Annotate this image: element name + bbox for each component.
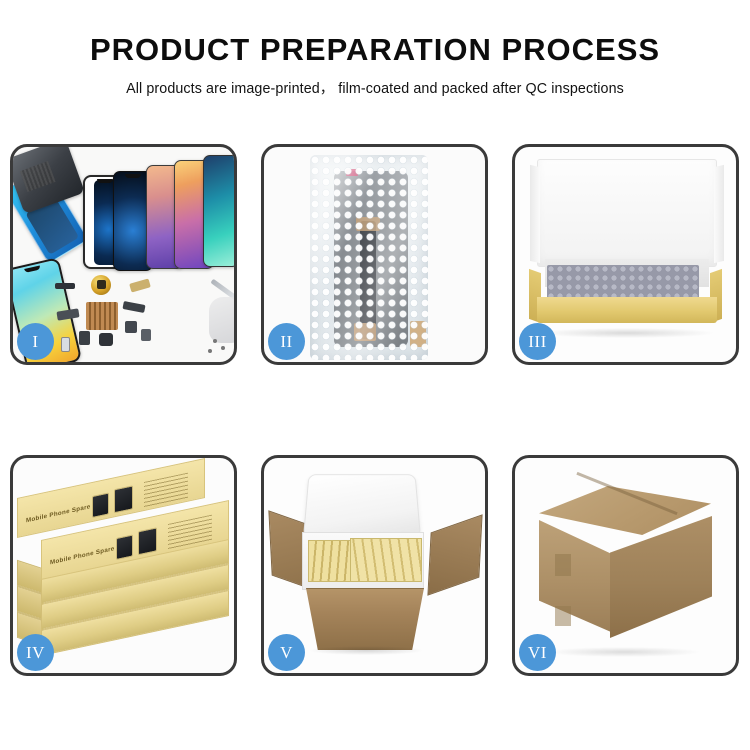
box-lid-icon — [537, 159, 717, 267]
box-shadow — [541, 328, 713, 338]
step-badge-2: II — [268, 323, 305, 360]
carton-tape-patch-1-icon — [555, 554, 571, 576]
carton-body-icon — [306, 588, 424, 650]
sealed-carton-shadow — [549, 647, 699, 657]
carton-right-face-icon — [610, 516, 712, 638]
screw-icon-2 — [221, 346, 225, 350]
carton-right-flap-icon — [427, 514, 482, 595]
carton-shadow — [310, 646, 422, 655]
yellow-boxes-row-2-icon — [350, 538, 422, 582]
carton-left-face-icon — [539, 520, 611, 632]
screw-icon-1 — [213, 339, 217, 343]
page-header: PRODUCT PREPARATION PROCESS All products… — [0, 0, 750, 98]
step-panel-4: Mobile Phone Spare Parts Mobile Phone Sp… — [10, 455, 237, 676]
step-badge-1: I — [17, 323, 54, 360]
circuit-board-icon — [86, 302, 118, 330]
sim-tray-icon — [61, 337, 70, 352]
small-part-icon — [141, 329, 151, 341]
box-label-lines-2 — [168, 515, 212, 550]
process-steps-grid: I II — [10, 144, 740, 684]
flex-cable-icon-2 — [56, 308, 79, 320]
carton-tape-patch-2-icon — [555, 606, 571, 626]
speaker-module-icon — [91, 275, 111, 295]
box-label-screen-2a — [116, 534, 133, 560]
flex-cable-icon-3 — [122, 301, 145, 313]
page-title: PRODUCT PREPARATION PROCESS — [0, 33, 750, 66]
box-label-screen-2b — [138, 527, 157, 555]
step-badge-5: V — [268, 634, 305, 671]
phone-back-housing-icon — [10, 144, 85, 214]
grey-bubble-foam-icon — [547, 265, 699, 301]
flex-cable-icon-1 — [55, 283, 75, 289]
battery-connector-icon — [99, 333, 113, 346]
vibrator-motor-icon — [79, 331, 90, 345]
plastic-sheen-icon — [310, 155, 428, 360]
product-preparation-page: PRODUCT PREPARATION PROCESS All products… — [0, 0, 750, 750]
box-label-screen-1a — [92, 492, 109, 518]
step-badge-6: VI — [519, 634, 556, 671]
step-panel-2: II — [261, 144, 488, 365]
foam-lid-icon — [303, 474, 421, 534]
step-panel-5: V — [261, 455, 488, 676]
hand-icon — [209, 297, 237, 343]
box-label-screen-1b — [114, 485, 133, 513]
step-panel-1: I — [10, 144, 237, 365]
box-label-lines-1 — [144, 473, 188, 508]
bubble-wrap-bag-icon — [310, 155, 428, 360]
step-panel-3: III — [512, 144, 739, 365]
camera-module-icon — [125, 321, 137, 333]
teal-phone-icon — [203, 155, 237, 267]
box-front-panel-icon — [537, 297, 717, 323]
step-badge-4: IV — [17, 634, 54, 671]
step-badge-3: III — [519, 323, 556, 360]
step-panel-6: VI — [512, 455, 739, 676]
screw-icon-3 — [208, 349, 212, 353]
gold-contact-icon — [129, 278, 151, 292]
page-subtitle: All products are image-printed， film-coa… — [0, 77, 750, 98]
